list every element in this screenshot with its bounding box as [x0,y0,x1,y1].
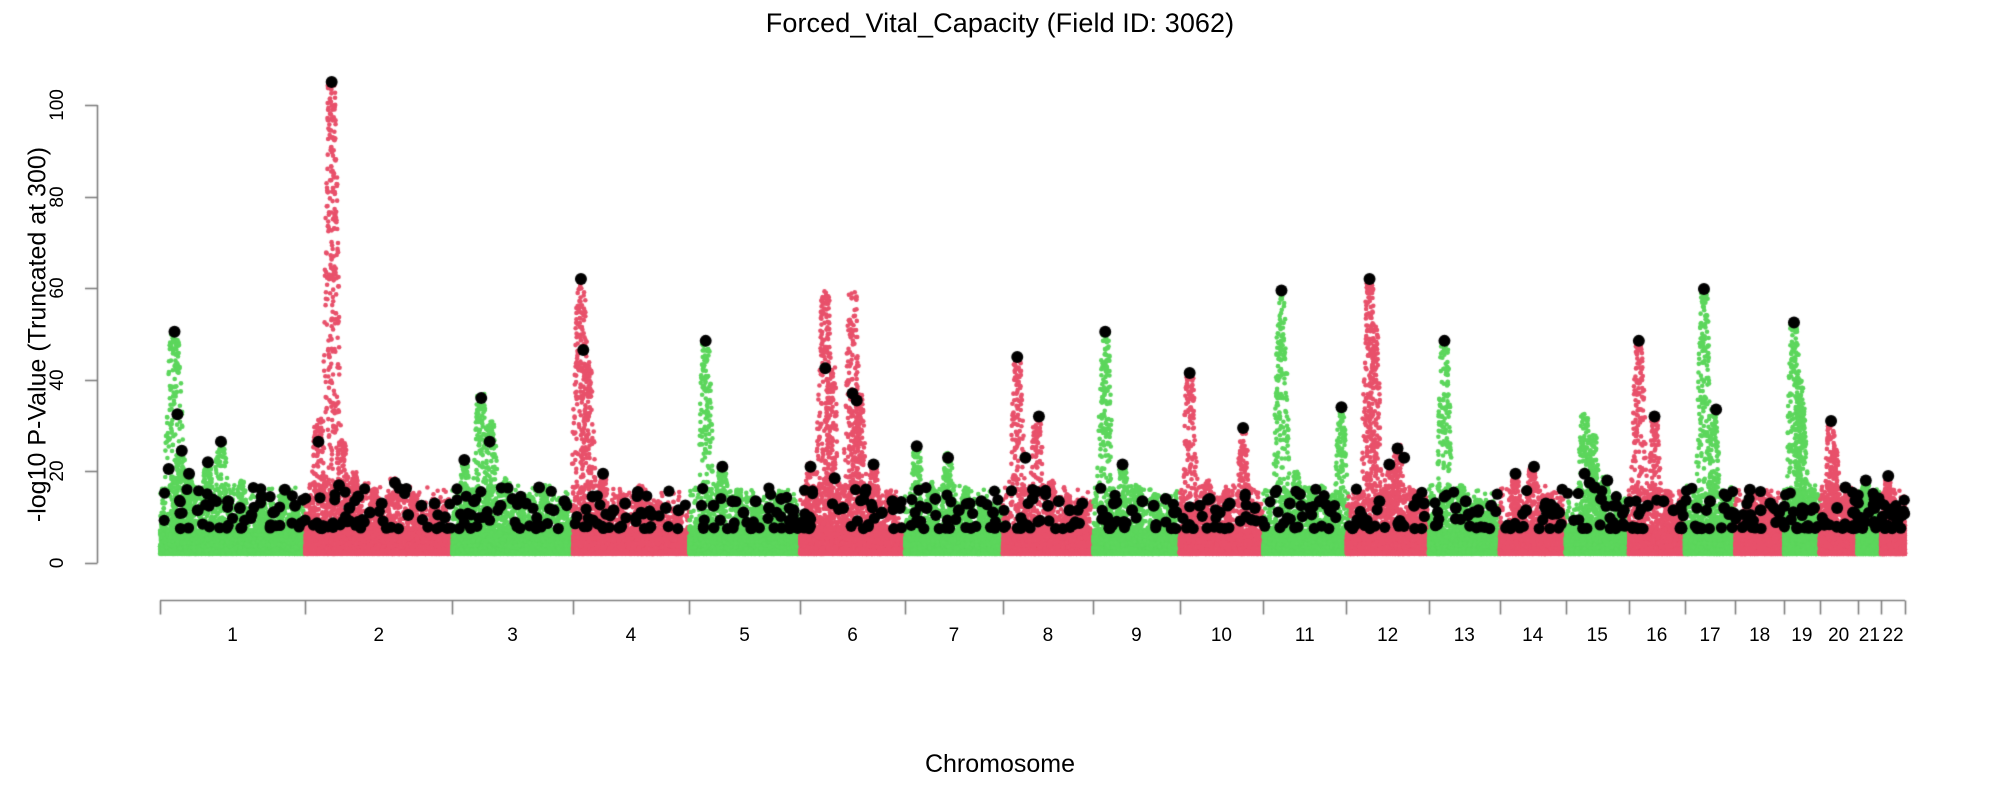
x-tick-label-chr22: 22 [1863,625,1923,647]
y-tick-label: 100 [47,75,69,135]
scatter-plot-canvas [0,0,2000,800]
x-tick-label-chr16: 16 [1627,625,1687,647]
y-tick-label: 0 [47,533,69,593]
x-tick-label-chr15: 15 [1567,625,1627,647]
y-tick-label: 80 [47,167,69,227]
x-tick-label-chr7: 7 [924,625,984,647]
x-tick-label-chr5: 5 [715,625,775,647]
x-tick-label-chr12: 12 [1358,625,1418,647]
x-tick-label-chr11: 11 [1275,625,1335,647]
y-tick-label: 20 [47,441,69,501]
y-tick-label: 40 [47,350,69,410]
x-tick-label-chr8: 8 [1018,625,1078,647]
x-tick-label-chr14: 14 [1503,625,1563,647]
x-tick-label-chr3: 3 [483,625,543,647]
x-tick-label-chr10: 10 [1191,625,1251,647]
x-tick-label-chr13: 13 [1434,625,1494,647]
x-tick-label-chr6: 6 [823,625,883,647]
manhattan-plot: Forced_Vital_Capacity (Field ID: 3062) -… [0,0,2000,800]
y-tick-label: 60 [47,258,69,318]
x-tick-label-chr1: 1 [203,625,263,647]
x-tick-label-chr2: 2 [349,625,409,647]
x-tick-label-chr9: 9 [1106,625,1166,647]
x-tick-label-chr4: 4 [601,625,661,647]
